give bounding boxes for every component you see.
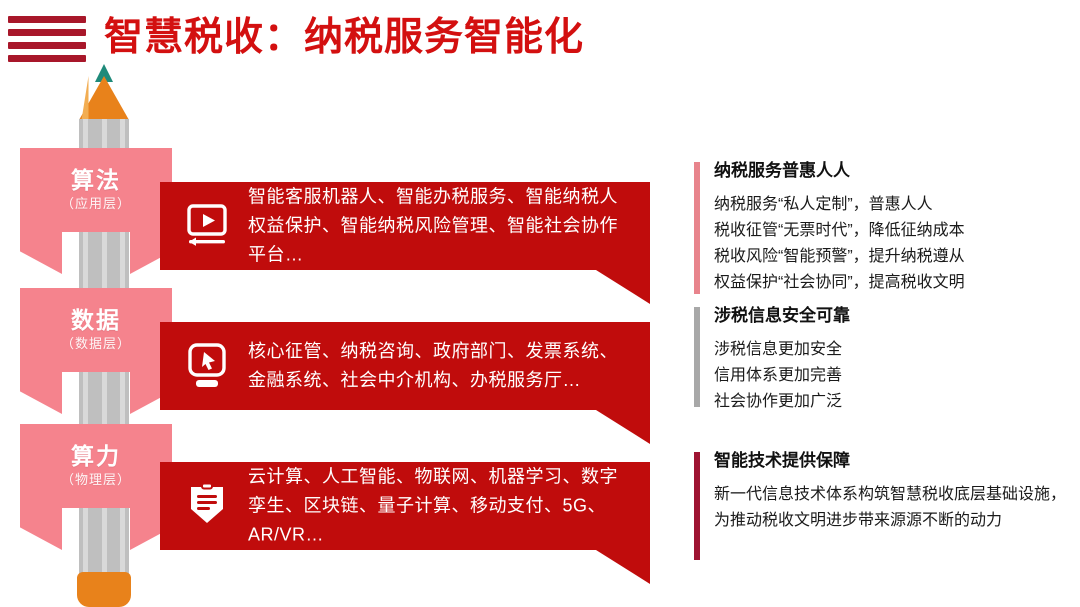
document-inbox-icon [184, 483, 230, 529]
panel-line: 涉税信息更加安全 [714, 337, 1072, 363]
banner-algorithm[interactable]: 智能客服机器人、智能办税服务、智能纳税人权益保护、智能纳税风险管理、智能社会协作… [160, 182, 650, 270]
banner-text: 智能客服机器人、智能办税服务、智能纳税人权益保护、智能纳税风险管理、智能社会协作… [248, 183, 632, 270]
panel-line: 纳税服务“私人定制”，普惠人人 [714, 192, 1072, 218]
banner-computing-power[interactable]: 云计算、人工智能、物联网、机器学习、数字孪生、区块链、量子计算、移动支付、5G、… [160, 462, 650, 550]
layer-chevron-left [20, 508, 62, 550]
panel-algorithm: 纳税服务普惠人人 纳税服务“私人定制”，普惠人人 税收征管“无票时代”，降低征纳… [694, 160, 1072, 296]
banner-tail [596, 270, 650, 304]
panel-line: 社会协作更加广泛 [714, 389, 1072, 415]
header-bar-2 [8, 29, 86, 36]
layer-label-group: 算力 （物理层） [20, 424, 172, 508]
panel-line: 新一代信息技术体系构筑智慧税收底层基础设施，为推动税收文明进步带来源源不断的动力 [714, 482, 1072, 534]
page-title: 智慧税收：纳税服务智能化 [104, 14, 584, 62]
header-decor-bars [8, 16, 86, 62]
layer-subtitle: （物理层） [61, 470, 131, 490]
layer-title: 数据 [71, 307, 121, 334]
panel-line: 税收风险“智能预警”，提升纳税遵从 [714, 244, 1072, 270]
panel-accent-bar [694, 307, 700, 407]
play-video-icon [184, 203, 230, 249]
panel-line: 税收征管“无票时代”，降低征纳成本 [714, 218, 1072, 244]
pencil-wood-highlight [82, 76, 89, 120]
layer-chevron-left [20, 232, 62, 274]
banner-tail [596, 550, 650, 584]
panel-line: 信用体系更加完善 [714, 363, 1072, 389]
banner-text: 云计算、人工智能、物联网、机器学习、数字孪生、区块链、量子计算、移动支付、5G、… [248, 463, 632, 550]
panel-heading: 涉税信息安全可靠 [714, 305, 1072, 327]
panel-data: 涉税信息安全可靠 涉税信息更加安全 信用体系更加完善 社会协作更加广泛 [694, 305, 1072, 415]
layer-label-group: 算法 （应用层） [20, 148, 172, 232]
infographic-canvas: 智慧税收：纳税服务智能化 算法 （应用层） 智能客 [0, 0, 1080, 607]
layer-subtitle: （数据层） [61, 334, 131, 354]
header-bar-4 [8, 55, 86, 62]
header-bar-1 [8, 16, 86, 23]
layer-label-group: 数据 （数据层） [20, 288, 172, 372]
layer-block-data[interactable]: 数据 （数据层） [20, 288, 172, 372]
banner-notch [160, 550, 194, 580]
panel-heading: 纳税服务普惠人人 [714, 160, 1072, 182]
pencil-eraser [77, 572, 131, 607]
monitor-cursor-icon [184, 343, 230, 389]
layer-block-computing-power[interactable]: 算力 （物理层） [20, 424, 172, 508]
layer-chevron-left [20, 372, 62, 414]
panel-line: 权益保护“社会协同”，提高税收文明 [714, 270, 1072, 296]
banner-tail [596, 410, 650, 444]
panel-heading: 智能技术提供保障 [714, 450, 1072, 472]
layer-title: 算法 [71, 167, 121, 194]
panel-computing-power: 智能技术提供保障 新一代信息技术体系构筑智慧税收底层基础设施，为推动税收文明进步… [694, 450, 1072, 534]
banner-data[interactable]: 核心征管、纳税咨询、政府部门、发票系统、金融系统、社会中介机构、办税服务厅… [160, 322, 650, 410]
layer-title: 算力 [71, 443, 121, 470]
layer-subtitle: （应用层） [61, 194, 131, 214]
panel-accent-bar [694, 452, 700, 560]
banner-text: 核心征管、纳税咨询、政府部门、发票系统、金融系统、社会中介机构、办税服务厅… [248, 337, 632, 395]
header-bar-3 [8, 42, 86, 49]
layer-block-algorithm[interactable]: 算法 （应用层） [20, 148, 172, 232]
panel-accent-bar [694, 162, 700, 294]
